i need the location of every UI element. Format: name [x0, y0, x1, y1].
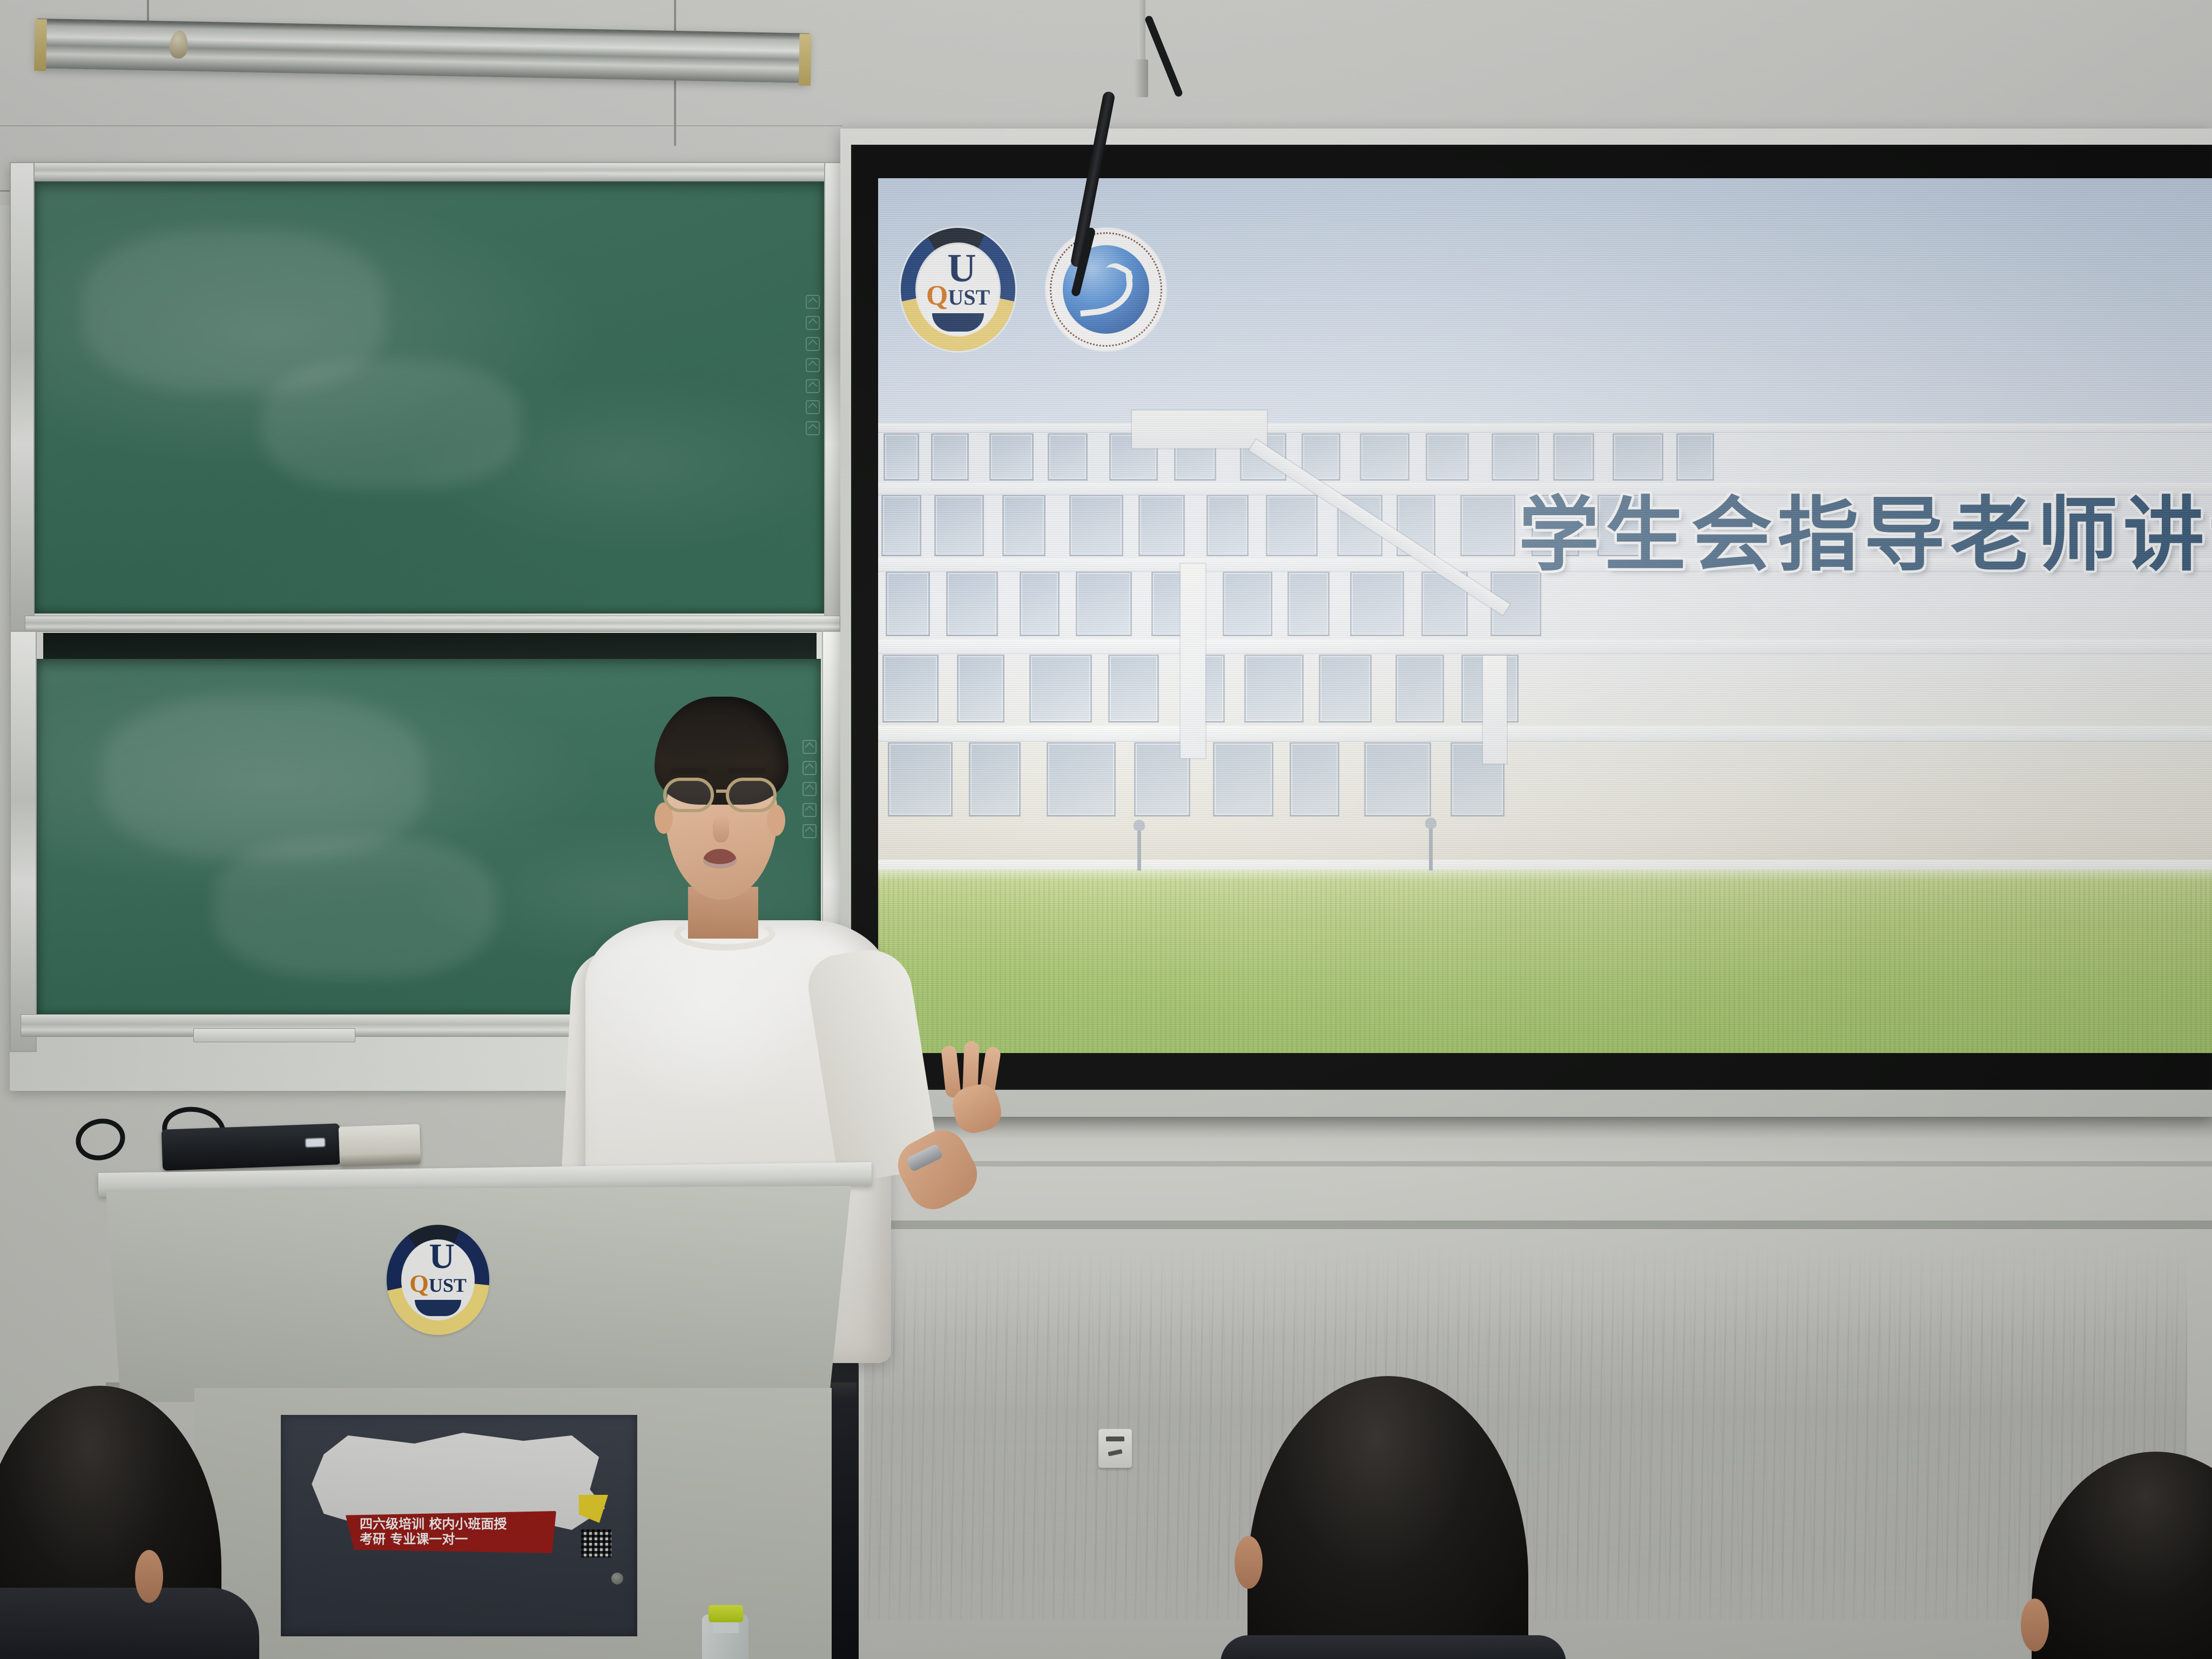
microphone-support-rod: [1138, 0, 1145, 65]
qust-university-seal-icon: U QUST: [901, 228, 1015, 351]
blackboard-middle-ledge: [25, 616, 840, 632]
building-window: [1395, 655, 1444, 723]
blackboard-tray-extension: [193, 1028, 355, 1042]
seal-qust-monogram: QUST: [409, 1271, 467, 1296]
building-window: [934, 495, 984, 556]
pen-icon: [806, 295, 820, 309]
light-mount-knob: [168, 30, 189, 59]
building-window: [1138, 495, 1185, 556]
chalk-smear: [215, 837, 496, 977]
classroom-photo: U QUST 学生会指导老师讲话: [0, 0, 2212, 1659]
building-window: [1108, 655, 1159, 723]
light-end-cap-left: [34, 19, 47, 71]
poster-line-1: 四六级培训 校内小班面授: [360, 1517, 556, 1532]
building-window: [881, 495, 921, 556]
building-floor-band: [878, 639, 2212, 653]
blackboard-frame-top: [10, 162, 852, 181]
light-end-cap-right: [799, 33, 812, 85]
slide-title: 学生会指导老师讲话: [1519, 470, 2212, 587]
seal-uu-monogram: U: [947, 253, 973, 285]
building-window: [1350, 571, 1404, 636]
grid-icon: [806, 400, 820, 414]
building-window: [1223, 571, 1272, 636]
arrow-right-icon: [806, 337, 820, 351]
audience-ear-left: [135, 1550, 163, 1603]
screw-icon: [611, 1573, 623, 1584]
building-window: [1460, 495, 1515, 556]
blackboard-edge-icon-strip-upper: [806, 295, 820, 435]
speaker-right-ear: [767, 805, 785, 836]
building-window: [1360, 433, 1410, 481]
arrow-left-icon: [806, 358, 820, 372]
eyeglasses-left-lens: [663, 778, 714, 812]
speaker-mouth: [703, 849, 737, 868]
speaker-left-eyebrow: [671, 768, 709, 774]
eyeglasses-right-lens: [726, 778, 777, 812]
building-window: [1206, 495, 1249, 556]
poster-red-banner: 四六级培训 校内小班面授 考研 专业课一对一: [346, 1511, 556, 1553]
building-window: [1020, 571, 1060, 636]
eyeglasses-bridge: [716, 790, 729, 793]
torn-poster-panel: 四六级培训 校内小班面授 考研 专业课一对一: [281, 1415, 637, 1636]
blackboard-panel-upper: [35, 181, 824, 613]
water-bottle-cap[interactable]: [709, 1605, 743, 1622]
note-icon: [806, 421, 820, 435]
building-window: [886, 571, 930, 636]
blackboard-frame-left-lower: [10, 631, 37, 1052]
chalk-smear: [102, 697, 426, 859]
building-window: [1244, 655, 1304, 723]
ceiling-seam-line-secondary: [0, 125, 842, 126]
building-window: [884, 433, 919, 481]
black-remote-device[interactable]: [161, 1123, 341, 1170]
building-window: [931, 433, 969, 481]
finger: [941, 1045, 961, 1098]
speaker-nose: [713, 814, 729, 842]
audience-ear-right: [2021, 1599, 2049, 1651]
eraser-icon: [806, 379, 820, 393]
building-window: [1048, 433, 1088, 481]
seal-qust-monogram: QUST: [926, 282, 990, 310]
seal-uu-monogram: U: [429, 1243, 451, 1271]
qr-code-icon: [581, 1529, 611, 1557]
building-window: [1266, 495, 1318, 556]
building-roof-block: [1132, 410, 1267, 448]
building-window: [1364, 742, 1431, 817]
speaker-right-eyebrow: [728, 768, 766, 774]
speaker-right-hand: [941, 1046, 1006, 1127]
college-bird-seal-icon: [1047, 229, 1165, 350]
audience-shoulder-left: [0, 1588, 259, 1659]
building-window: [1002, 495, 1046, 556]
building-window: [1287, 571, 1330, 636]
blackboard-frame-left-upper: [10, 162, 35, 632]
building-window: [1069, 495, 1123, 556]
lamp-post-icon: [1429, 827, 1433, 871]
pencil-icon: [806, 316, 820, 330]
building-window: [946, 571, 998, 636]
audience-shoulder-center: [1220, 1635, 1566, 1659]
microphone-housing: [1134, 59, 1148, 97]
building-pilaster: [1181, 564, 1205, 758]
chalk-smear: [261, 360, 521, 489]
slide-logo-group: U QUST: [901, 228, 1165, 351]
speaker-collar: [674, 917, 775, 950]
building-window: [989, 433, 1034, 481]
building-window: [1213, 742, 1273, 817]
building-window: [1290, 742, 1339, 817]
building-window: [1426, 433, 1469, 481]
white-block-object[interactable]: [339, 1124, 421, 1166]
audience-ear-center: [1235, 1536, 1263, 1589]
lamp-post-icon: [1137, 829, 1141, 871]
wall-power-socket[interactable]: [1098, 1429, 1132, 1468]
building-window: [1076, 571, 1132, 636]
podium-qust-seal-icon: U QUST: [387, 1225, 489, 1335]
building-floor-band: [878, 423, 2212, 432]
building-pilaster: [1483, 656, 1507, 764]
poster-line-2: 考研 专业课一对一: [360, 1532, 556, 1547]
building-window: [1319, 655, 1372, 723]
